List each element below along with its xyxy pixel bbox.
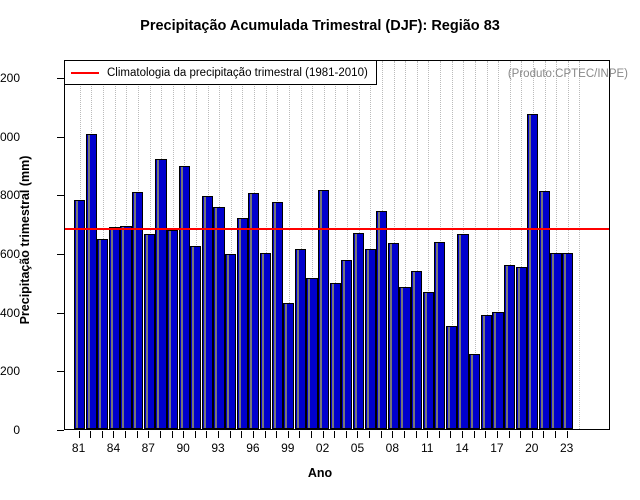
bar <box>550 253 561 429</box>
gridline <box>579 61 580 429</box>
x-tick-mark <box>520 431 521 438</box>
x-tick-mark <box>195 431 196 438</box>
bar <box>492 312 503 429</box>
bar <box>353 233 364 429</box>
bar <box>469 354 480 429</box>
bar <box>388 243 399 429</box>
bar <box>411 271 422 429</box>
bar <box>120 226 131 429</box>
bar <box>179 166 190 429</box>
x-tick-mark <box>241 431 242 438</box>
bar <box>376 211 387 429</box>
x-tick-mark <box>172 431 173 438</box>
plot-area <box>64 60 610 430</box>
bar <box>457 234 468 429</box>
bar <box>213 207 224 429</box>
bar <box>423 292 434 429</box>
x-tick-mark <box>532 431 533 438</box>
x-tick-mark <box>369 431 370 438</box>
x-tick-mark <box>450 431 451 438</box>
bar <box>260 253 271 429</box>
bar <box>295 249 306 429</box>
x-tick-mark <box>334 431 335 438</box>
y-tick-mark <box>57 430 64 431</box>
x-tick-mark <box>113 431 114 438</box>
bar <box>167 230 178 429</box>
x-tick-mark <box>79 431 80 438</box>
x-tick-mark <box>474 431 475 438</box>
bar <box>504 265 515 429</box>
climatology-reference-line <box>64 228 610 230</box>
x-tick-label: 08 <box>386 441 399 455</box>
bar <box>109 227 120 429</box>
x-tick-mark <box>299 431 300 438</box>
x-tick-mark <box>567 431 568 438</box>
bar <box>155 159 166 429</box>
x-tick-mark <box>381 431 382 438</box>
bar <box>237 218 248 429</box>
x-tick-mark <box>439 431 440 438</box>
x-tick-label: 96 <box>246 441 259 455</box>
x-tick-label: 02 <box>316 441 329 455</box>
bar <box>516 267 527 429</box>
bar <box>434 242 445 429</box>
bar <box>283 303 294 429</box>
x-tick-mark <box>276 431 277 438</box>
legend-label: Climatologia da precipitação trimestral … <box>107 67 368 79</box>
x-tick-mark <box>148 431 149 438</box>
x-tick-label: 23 <box>560 441 573 455</box>
legend: Climatologia da precipitação trimestral … <box>64 60 377 85</box>
x-axis-title: Ano <box>0 466 640 480</box>
x-tick-label: 87 <box>142 441 155 455</box>
y-tick-mark <box>57 137 64 138</box>
y-tick-label: 0 <box>0 423 20 437</box>
x-tick-mark <box>357 431 358 438</box>
y-tick-mark <box>57 254 64 255</box>
x-tick-mark <box>265 431 266 438</box>
x-tick-mark <box>102 431 103 438</box>
x-tick-mark <box>230 431 231 438</box>
y-tick-label: 200 <box>0 364 20 378</box>
x-tick-label: 20 <box>525 441 538 455</box>
bar <box>144 234 155 429</box>
y-tick-label: 800 <box>0 188 20 202</box>
y-tick-label: 1000 <box>0 130 20 144</box>
bar <box>330 283 341 429</box>
x-tick-mark <box>311 431 312 438</box>
bar <box>86 134 97 429</box>
x-tick-mark <box>509 431 510 438</box>
x-tick-mark <box>485 431 486 438</box>
y-tick-mark <box>57 195 64 196</box>
bar <box>399 287 410 429</box>
bar <box>97 239 108 429</box>
x-tick-label: 14 <box>455 441 468 455</box>
x-tick-label: 11 <box>421 441 433 455</box>
x-tick-mark <box>543 431 544 438</box>
bar <box>527 114 538 429</box>
bar <box>446 326 457 429</box>
x-tick-label: 93 <box>211 441 224 455</box>
x-tick-mark <box>427 431 428 438</box>
x-tick-label: 90 <box>176 441 189 455</box>
bar <box>74 200 85 429</box>
bar <box>341 260 352 429</box>
bar <box>272 202 283 429</box>
x-tick-mark <box>497 431 498 438</box>
x-tick-label: 81 <box>72 441 85 455</box>
x-tick-mark <box>206 431 207 438</box>
x-tick-label: 17 <box>490 441 503 455</box>
bar <box>562 253 573 429</box>
bar <box>318 190 329 429</box>
x-tick-mark <box>218 431 219 438</box>
x-tick-mark <box>160 431 161 438</box>
bar <box>365 249 376 429</box>
bar <box>481 315 492 429</box>
x-tick-label: 05 <box>351 441 364 455</box>
x-tick-mark <box>555 431 556 438</box>
x-tick-mark <box>137 431 138 438</box>
page-title: Precipitação Acumulada Trimestral (DJF):… <box>0 18 640 34</box>
x-tick-mark <box>392 431 393 438</box>
x-tick-mark <box>288 431 289 438</box>
x-tick-mark <box>253 431 254 438</box>
y-tick-mark <box>57 371 64 372</box>
y-tick-mark <box>57 313 64 314</box>
bar <box>190 246 201 429</box>
x-tick-mark <box>90 431 91 438</box>
x-tick-mark <box>404 431 405 438</box>
bar <box>306 278 317 429</box>
chart-figure: Precipitação Acumulada Trimestral (DJF):… <box>0 0 640 500</box>
x-tick-mark <box>462 431 463 438</box>
y-axis-title: Precipitação trimestral (mm) <box>18 60 32 420</box>
bar <box>202 196 213 429</box>
x-tick-mark <box>416 431 417 438</box>
x-tick-mark <box>323 431 324 438</box>
x-tick-label: 99 <box>281 441 294 455</box>
x-tick-mark <box>183 431 184 438</box>
x-tick-mark <box>125 431 126 438</box>
legend-line-icon <box>71 72 99 74</box>
y-tick-label: 600 <box>0 247 20 261</box>
y-tick-mark <box>57 78 64 79</box>
y-tick-label: 400 <box>0 306 20 320</box>
y-tick-label: 1200 <box>0 71 20 85</box>
x-tick-label: 84 <box>107 441 120 455</box>
producer-annotation: (Produto:CPTEC/INPE) <box>508 68 628 80</box>
x-tick-mark <box>346 431 347 438</box>
bar <box>225 254 236 429</box>
